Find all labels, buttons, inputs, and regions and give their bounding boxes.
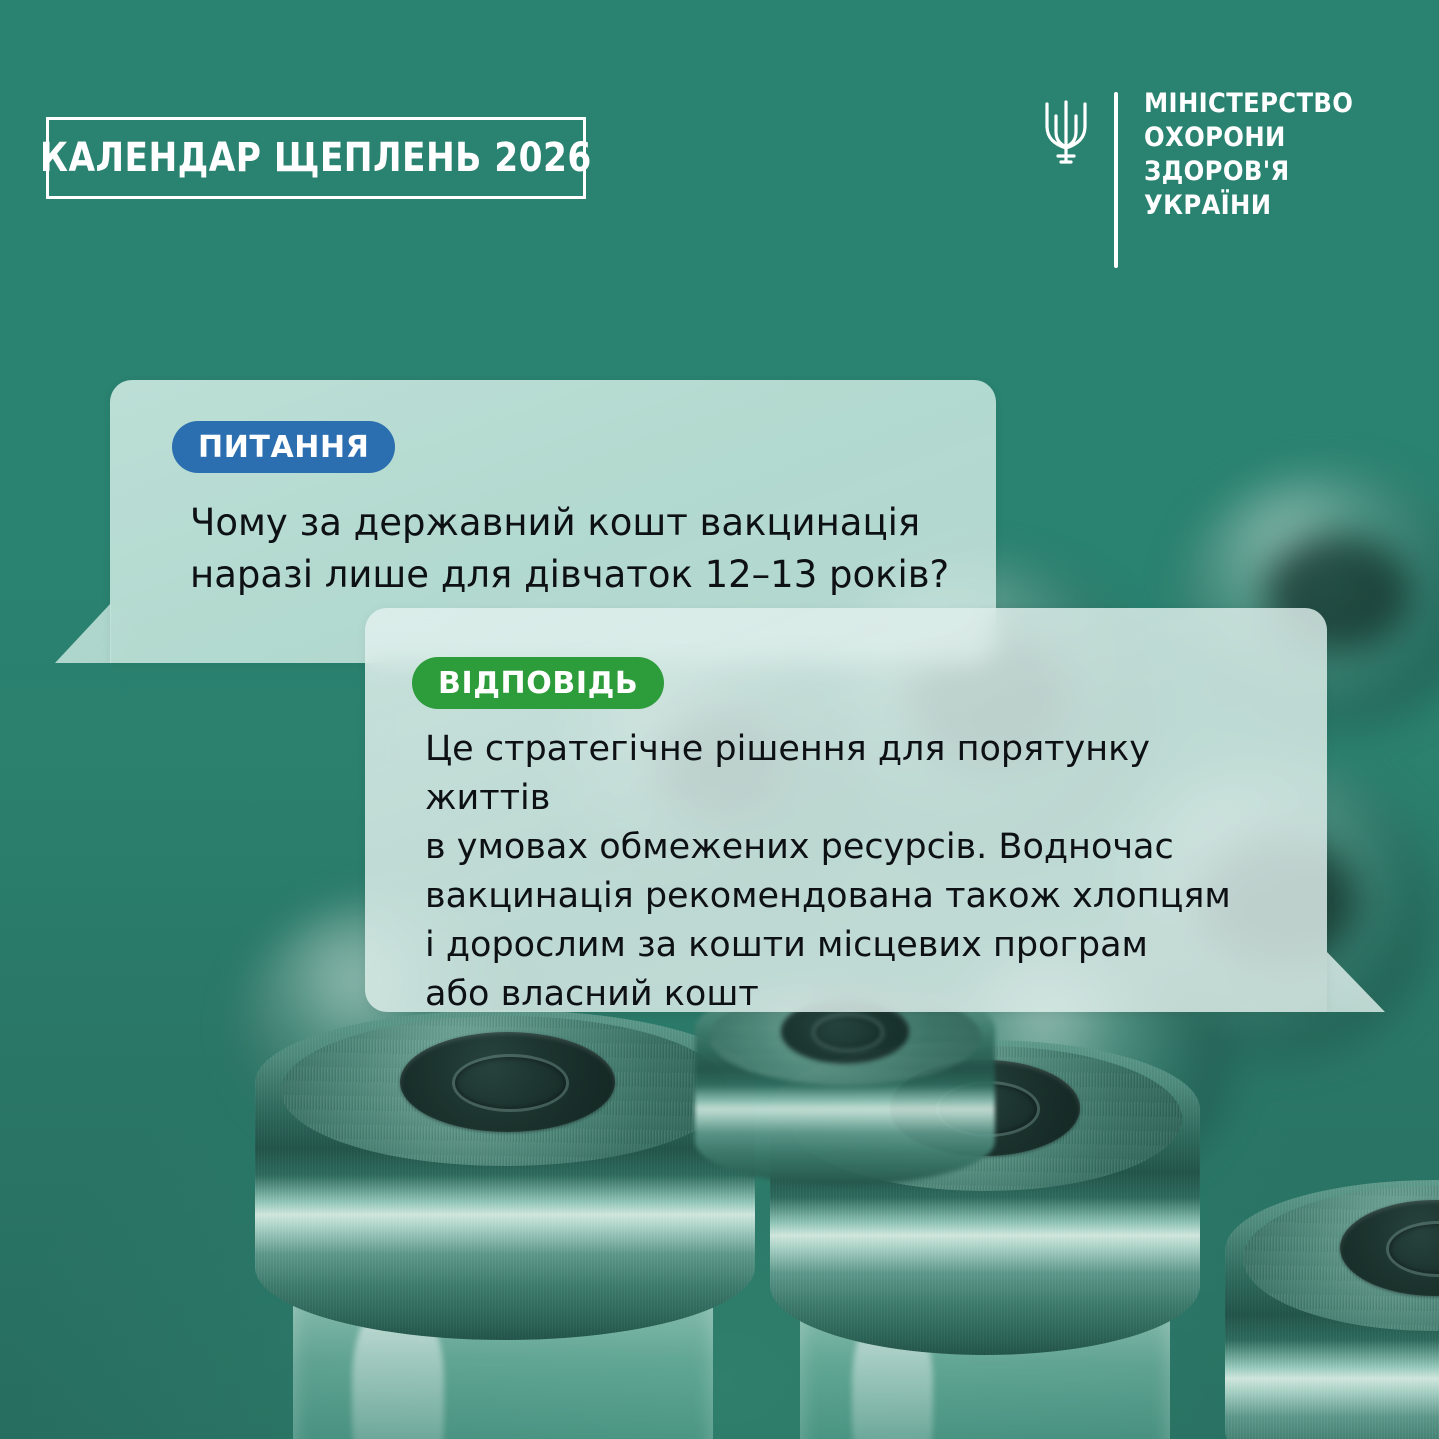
logo-line-1: МІНІСТЕРСТВО (1144, 90, 1353, 119)
vial-right (1225, 1180, 1439, 1439)
vial-left (255, 1010, 755, 1439)
ministry-logo: МІНІСТЕРСТВО ОХОРОНИ ЗДОРОВ'Я УКРАЇНИ (1040, 88, 1377, 268)
logo-line-3: ЗДОРОВ'Я (1144, 158, 1353, 187)
vial-back-left (695, 985, 995, 1225)
logo-line-2: ОХОРОНИ (1144, 124, 1353, 153)
page-title-box: КАЛЕНДАР ЩЕПЛЕНЬ 2026 (46, 117, 586, 199)
infographic-card: КАЛЕНДАР ЩЕПЛЕНЬ 2026 МІНІСТЕРСТВО ОХОРО… (0, 0, 1439, 1439)
answer-text: Це стратегічне рішення для порятунку жит… (425, 725, 1255, 1019)
ukraine-trident-icon (1040, 92, 1092, 170)
logo-line-4: УКРАЇНИ (1144, 192, 1353, 221)
question-text: Чому за державний кошт вакцинація наразі… (190, 497, 980, 601)
question-badge: ПИТАННЯ (172, 421, 395, 473)
logo-divider (1114, 92, 1118, 268)
page-title: КАЛЕНДАР ЩЕПЛЕНЬ 2026 (40, 135, 592, 181)
logo-text-block: МІНІСТЕРСТВО ОХОРОНИ ЗДОРОВ'Я УКРАЇНИ (1144, 88, 1377, 221)
answer-badge: ВІДПОВІДЬ (412, 657, 664, 709)
